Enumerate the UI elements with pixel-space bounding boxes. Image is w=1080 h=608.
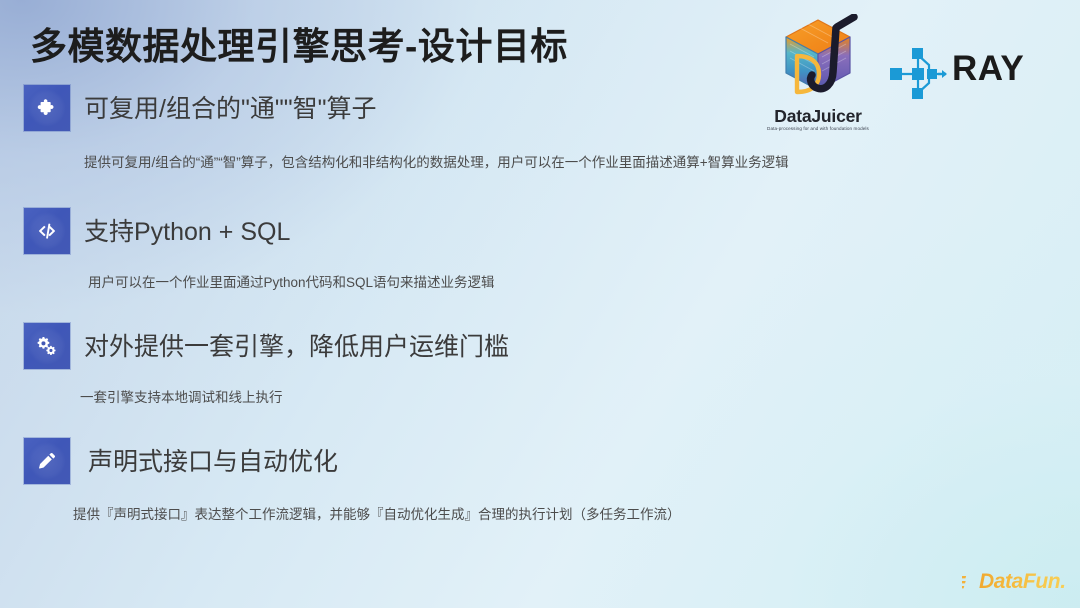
feature-description-1: 提供可复用/组合的“通”“智”算子，包含结构化和非结构化的数据处理，用户可以在一…	[84, 151, 789, 171]
pencil-icon	[24, 438, 70, 484]
datajuicer-name: DataJuicer	[755, 106, 881, 127]
datajuicer-cube-logo: DataJuicer Data-processing for and with …	[755, 14, 881, 138]
code-brackets-icon	[24, 208, 70, 254]
feature-description-3: 一套引擎支持本地调试和线上执行	[80, 386, 283, 406]
page-title: 多模数据处理引擎思考-设计目标	[30, 16, 568, 70]
datajuicer-tagline: Data-processing for and with foundation …	[755, 126, 881, 131]
ray-logo: RAY	[888, 45, 1038, 107]
feature-heading-4: 声明式接口与自动优化	[88, 442, 338, 478]
slide-canvas: 多模数据处理引擎思考-设计目标 可复用/组合的"通""智"算子 提供可复用/组合…	[0, 0, 1080, 608]
ray-name: RAY	[952, 49, 1024, 89]
puzzle-piece-icon	[24, 85, 70, 131]
feature-heading-3: 对外提供一套引擎，降低用户运维门槛	[84, 327, 509, 363]
feature-description-4: 提供『声明式接口』表达整个工作流逻辑，并能够『自动优化生成』合理的执行计划（多任…	[73, 503, 681, 523]
datafun-logo: DataFun.	[962, 570, 1066, 596]
feature-heading-1: 可复用/组合的"通""智"算子	[84, 89, 376, 125]
feature-description-2: 用户可以在一个作业里面通过Python代码和SQL语句来描述业务逻辑	[88, 271, 495, 291]
datafun-name: DataFun.	[979, 570, 1066, 594]
gears-icon	[24, 323, 70, 369]
feature-heading-2: 支持Python + SQL	[84, 212, 290, 248]
